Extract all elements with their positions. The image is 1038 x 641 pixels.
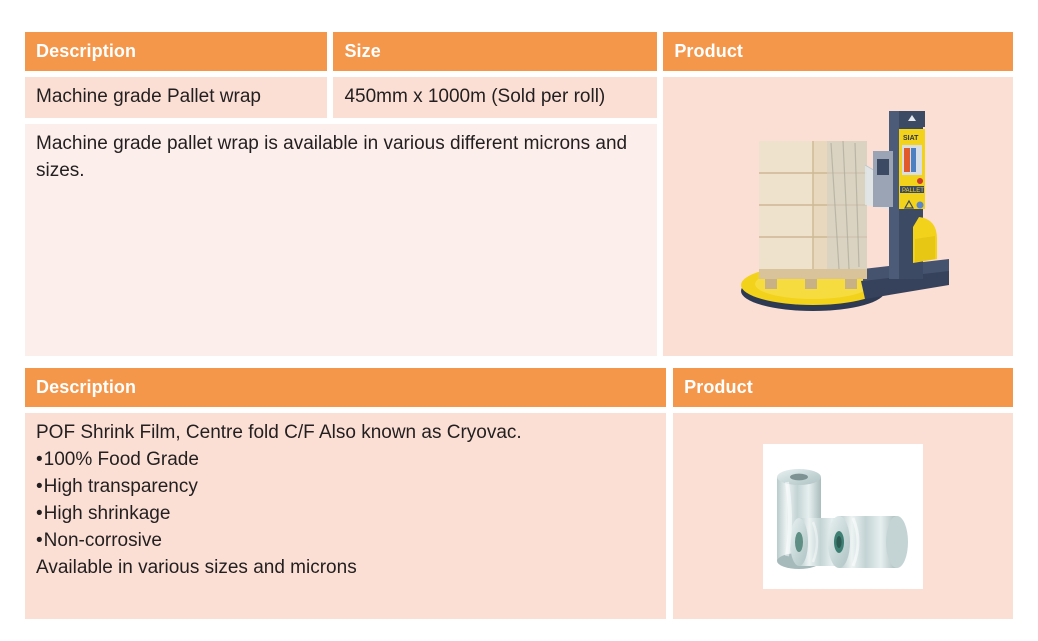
table-row: POF Shrink Film, Centre fold C/F Also kn… [25,413,1013,619]
list-item: •100% Food Grade [36,447,656,474]
pof-shrink-film-table: Description Product POF Shrink Film, Cen… [25,368,1013,619]
cell-product-image: SIAT PALLET [663,77,1013,356]
column-header-product: Product [673,368,1013,407]
list-item: •High shrinkage [36,501,656,528]
column-header-size: Size [333,32,656,71]
film-roll-front [828,516,908,568]
column-header-description: Description [25,32,327,71]
cell-product-image [673,413,1013,619]
column-divider [657,124,664,356]
svg-text:SIAT: SIAT [903,135,919,142]
cell-size: 450mm x 1000m (Sold per roll) [333,77,656,118]
list-item-label: High transparency [44,476,198,497]
svg-text:PALLET: PALLET [902,188,924,194]
list-item: •High transparency [36,474,656,501]
bullet-icon: • [36,503,43,524]
cell-description-body: POF Shrink Film, Centre fold C/F Also kn… [25,413,666,619]
table-header-row: Description Product [25,368,1013,407]
column-divider [666,413,673,619]
column-header-description: Description [25,368,666,407]
list-item-label: 100% Food Grade [44,449,199,470]
pallet-wrap-machine-photo: SIAT PALLET [713,109,963,324]
cell-description-title: Machine grade Pallet wrap [25,77,327,118]
cell-description-detail: Machine grade pallet wrap is available i… [25,124,657,356]
description-footer: Available in various sizes and microns [36,555,656,582]
column-header-product: Product [663,32,1013,71]
list-item-label: Non-corrosive [44,530,162,551]
bullet-icon: • [36,449,43,470]
bullet-icon: • [36,476,43,497]
table-row: Machine grade Pallet wrap 450mm x 1000m … [25,77,1013,118]
table-header-row: Description Size Product [25,32,1013,71]
column-divider [666,368,673,407]
shrink-film-rolls-photo [763,444,923,589]
feature-list: •100% Food Grade •High transparency •Hig… [36,447,656,555]
document-page: Description Size Product Machine grade P… [0,0,1038,641]
list-item-label: High shrinkage [44,503,171,524]
description-intro: POF Shrink Film, Centre fold C/F Also kn… [36,420,656,447]
machine-grade-pallet-wrap-table: Description Size Product Machine grade P… [25,32,1013,356]
bullet-icon: • [36,530,43,551]
list-item: •Non-corrosive [36,528,656,555]
